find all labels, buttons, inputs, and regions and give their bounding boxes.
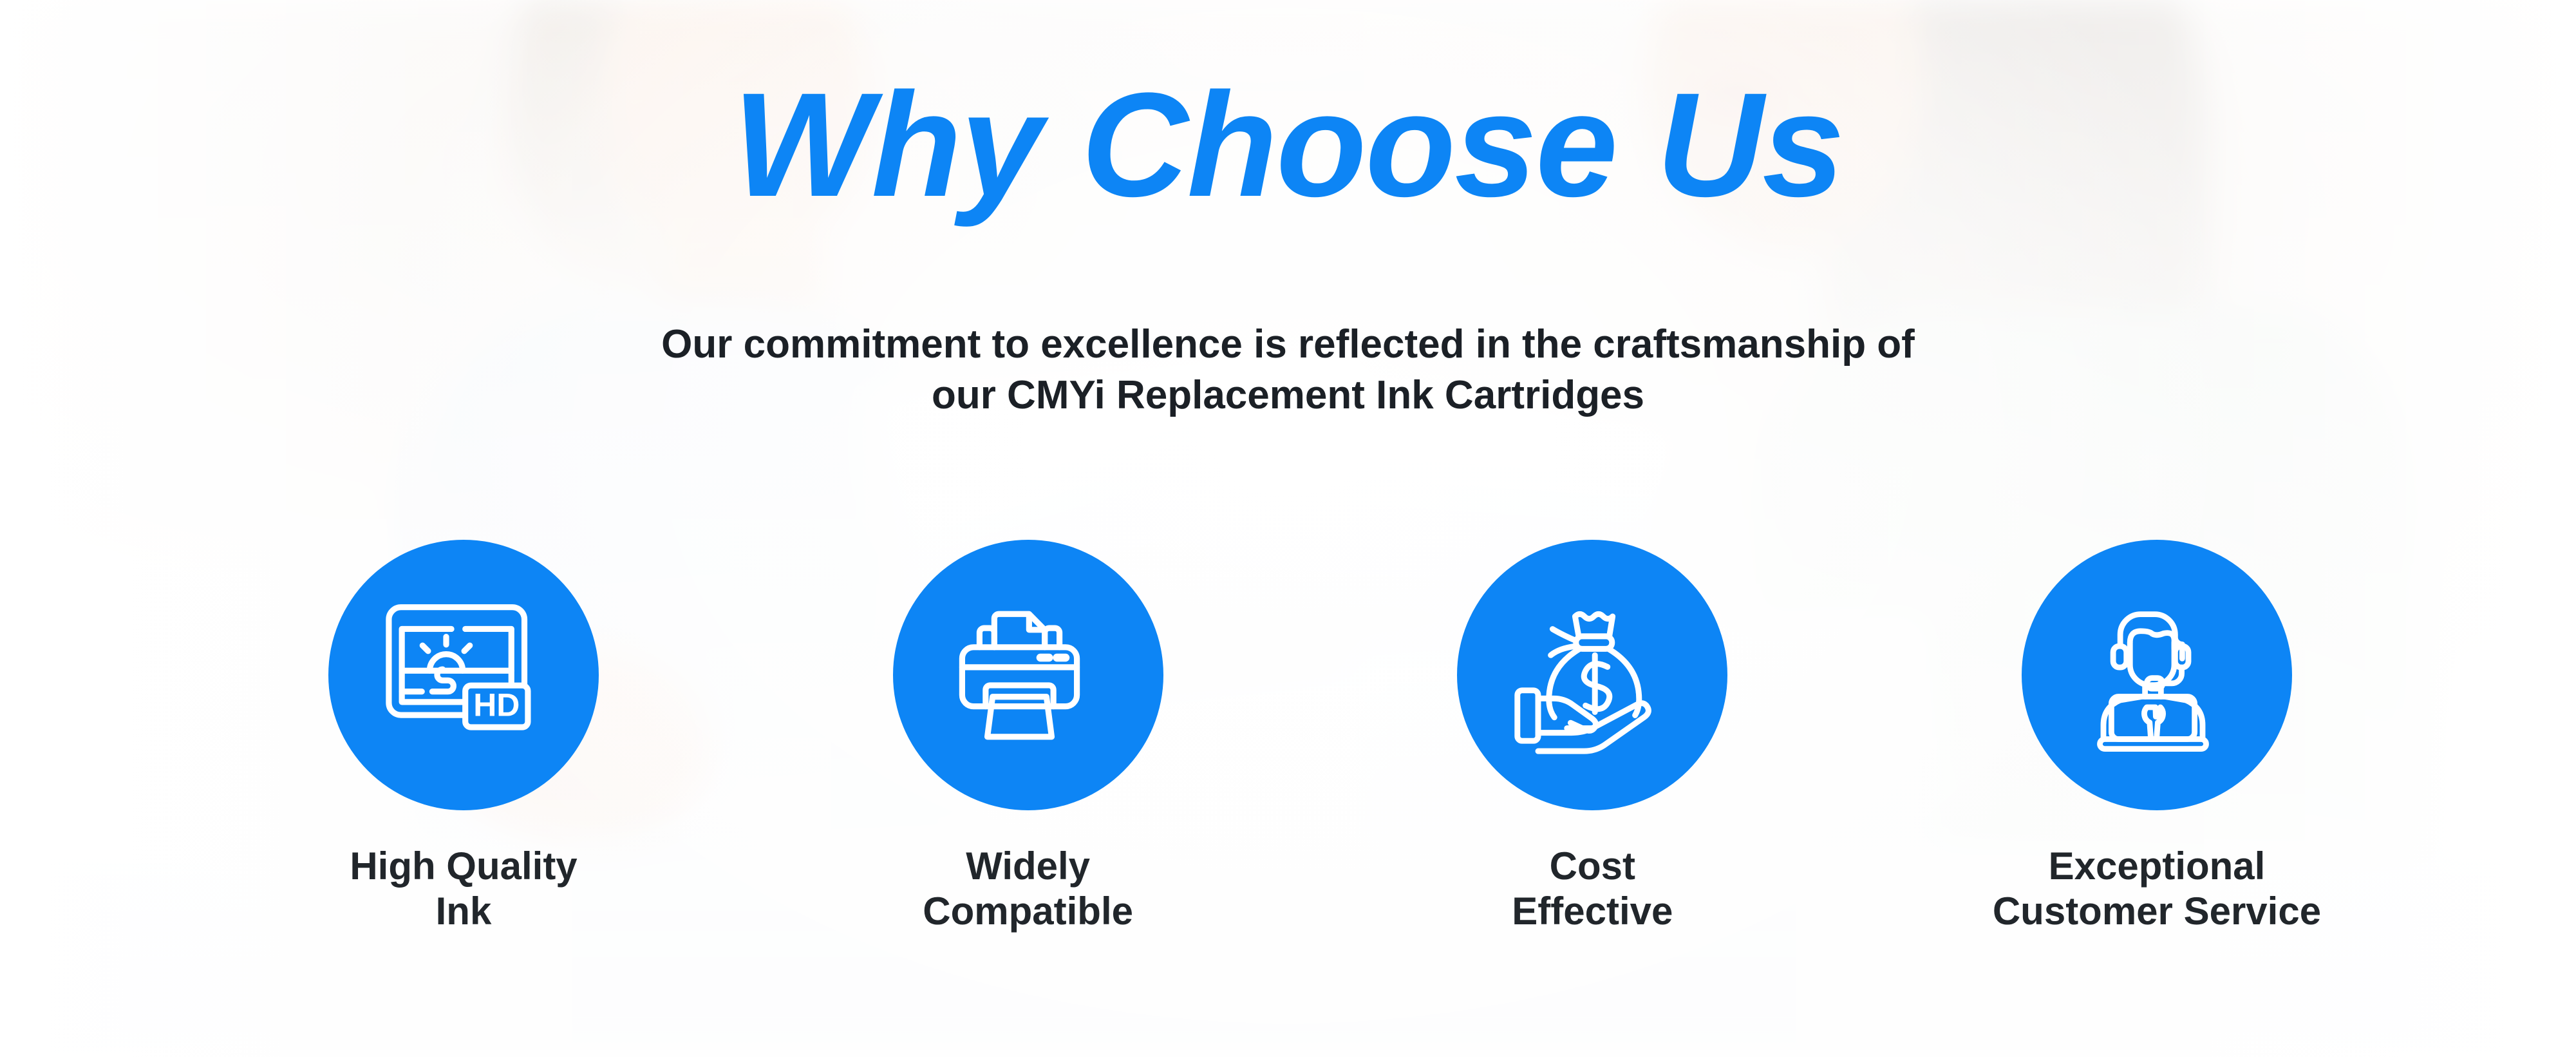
feature-icon-circle-3 bbox=[1457, 540, 1727, 810]
feature-icon-circle-2 bbox=[893, 540, 1163, 810]
banner-content: Why Choose Us Our commitment to excellen… bbox=[0, 0, 2576, 1057]
page-title: Why Choose Us bbox=[0, 71, 2576, 219]
support-agent-laptop-icon bbox=[2068, 587, 2245, 764]
svg-text:HD: HD bbox=[473, 687, 520, 723]
subtitle-line-2: our CMYi Replacement Ink Cartridges bbox=[355, 370, 2222, 421]
printer-icon bbox=[941, 588, 1115, 762]
feature-icon-circle-4 bbox=[2022, 540, 2292, 810]
money-bag-in-hand-icon bbox=[1502, 585, 1682, 765]
subtitle-line-1: Our commitment to excellence is reflecte… bbox=[355, 319, 2222, 370]
feature-item-widely-compatible: Widely Compatible bbox=[822, 540, 1234, 933]
feature-item-customer-service: Exceptional Customer Service bbox=[1951, 540, 2363, 933]
feature-icon-circle-1: HD bbox=[328, 540, 599, 810]
feature-label-4: Exceptional Customer Service bbox=[1993, 844, 2321, 933]
why-choose-us-banner: Why Choose Us Our commitment to excellen… bbox=[0, 0, 2576, 1057]
feature-item-high-quality-ink: HD High Quality Ink bbox=[258, 540, 670, 933]
feature-list: HD High Quality Ink bbox=[258, 540, 2363, 933]
feature-item-cost-effective: Cost Effective bbox=[1386, 540, 1798, 933]
feature-label-1: High Quality Ink bbox=[350, 844, 577, 933]
hd-image-icon: HD bbox=[377, 588, 550, 762]
feature-label-3: Cost Effective bbox=[1512, 844, 1673, 933]
subtitle: Our commitment to excellence is reflecte… bbox=[355, 319, 2222, 421]
feature-label-2: Widely Compatible bbox=[923, 844, 1133, 933]
